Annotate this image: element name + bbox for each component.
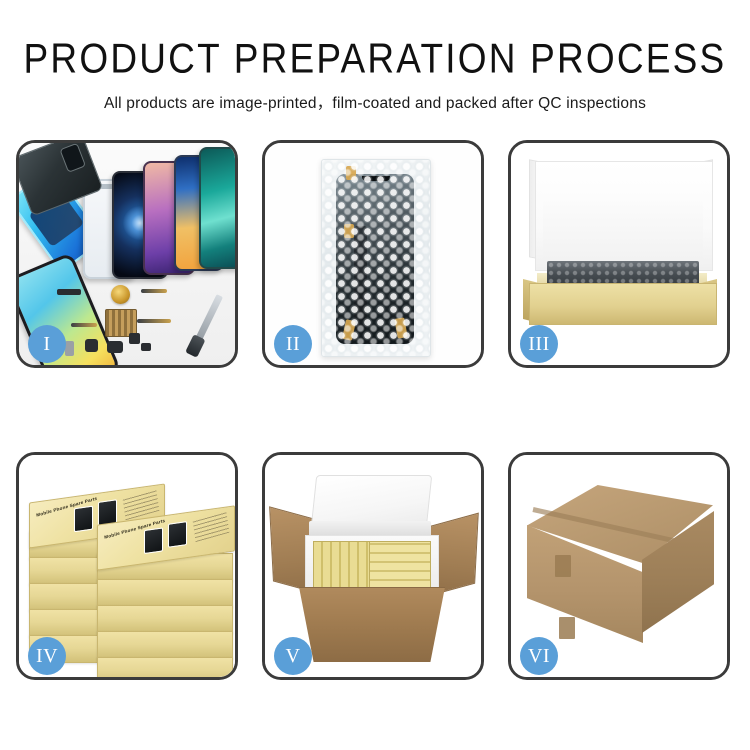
screwdriver-icon	[194, 294, 223, 344]
flex-cable-part-3	[71, 323, 97, 327]
process-step-4[interactable]: Mobile Phone Spare Parts Mobile Phone Sp…	[16, 452, 238, 680]
process-step-3[interactable]: III	[508, 140, 730, 368]
screw-set-part	[141, 343, 151, 351]
box-window-right-2	[168, 521, 187, 548]
bubble-wrap-bag	[321, 159, 431, 357]
page-title: PRODUCT PREPARATION PROCESS	[0, 38, 750, 82]
phone-green-icon	[199, 147, 235, 269]
stacked-box-r2	[97, 631, 233, 659]
carton-tape-lower	[559, 617, 575, 639]
antenna-part	[129, 333, 140, 344]
box-window-left-1	[74, 506, 93, 533]
step-badge-6: VI	[520, 637, 558, 675]
page-subtitle: All products are image-printed，film-coat…	[0, 91, 750, 113]
box-window-right-1	[144, 527, 163, 554]
stacked-box-r1	[97, 657, 233, 677]
step-badge-1: I	[28, 325, 66, 363]
step-badge-2: II	[274, 325, 312, 363]
carton-body	[299, 587, 445, 662]
flex-cable-part-2	[137, 319, 171, 323]
process-step-6[interactable]: VI	[508, 452, 730, 680]
process-step-1[interactable]: I	[16, 140, 238, 368]
stacked-box-r3	[97, 605, 233, 633]
speaker-part	[107, 341, 123, 353]
vibration-motor-icon	[111, 285, 130, 304]
product-preparation-page: PRODUCT PREPARATION PROCESS All products…	[0, 0, 750, 750]
camera-module-part	[85, 339, 98, 352]
box-front-panel	[529, 283, 717, 325]
process-step-2[interactable]: II	[262, 140, 484, 368]
bubble-texture-overlay	[322, 160, 430, 356]
step-badge-5: V	[274, 637, 312, 675]
box-stack: Mobile Phone Spare Parts Mobile Phone Sp…	[27, 477, 233, 667]
packed-boxes-row-2	[369, 541, 431, 589]
box-spec-lines-right	[193, 511, 230, 542]
stacked-box-r4	[97, 579, 233, 607]
sim-tray-part	[65, 341, 74, 356]
battery-connector-part	[57, 289, 81, 295]
page-header: PRODUCT PREPARATION PROCESS All products…	[0, 38, 750, 113]
process-steps-grid: I II	[16, 140, 734, 700]
flex-cable-part-1	[141, 289, 167, 293]
step-badge-3: III	[520, 325, 558, 363]
process-step-5[interactable]: V	[262, 452, 484, 680]
carton-tape-upper	[555, 555, 571, 577]
foam-padding	[543, 191, 703, 267]
step-badge-4: IV	[28, 637, 66, 675]
